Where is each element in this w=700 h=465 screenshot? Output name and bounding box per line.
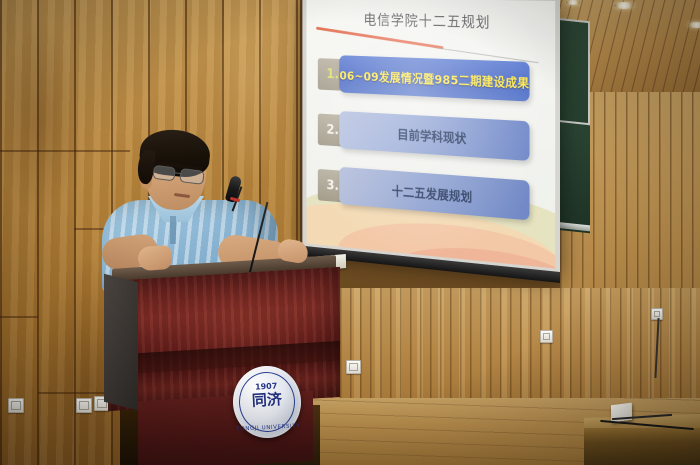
slide-item-1-banner: 06~09发展情况暨985二期建设成果 bbox=[339, 55, 529, 101]
slide-item-2-banner: 目前学科现状 bbox=[339, 111, 529, 161]
slide-item-2-text: 目前学科现状 bbox=[339, 121, 529, 151]
wall-seam-4 bbox=[38, 392, 112, 394]
recessed-light-3 bbox=[566, 0, 580, 5]
left-hand bbox=[137, 245, 173, 271]
right-hand bbox=[276, 238, 309, 265]
side-table-edge bbox=[584, 428, 700, 465]
wall-outlet-2 bbox=[76, 398, 92, 413]
wall-outlet-1 bbox=[8, 398, 24, 413]
recessed-light-2 bbox=[688, 22, 700, 28]
recessed-light-1 bbox=[614, 2, 634, 9]
lecture-hall-photo: 电信学院十二五规划 1. 06~09发展情况暨985二期建设成果 2. 目前学科… bbox=[0, 0, 700, 465]
slide-item-1: 1. 06~09发展情况暨985二期建设成果 bbox=[318, 54, 538, 105]
wall-outlet-5 bbox=[540, 330, 553, 343]
slide-item-3-text: 十二五发展规划 bbox=[339, 177, 529, 210]
slide-item-1-text: 06~09发展情况暨985二期建设成果 bbox=[339, 65, 529, 91]
wall-seam-3 bbox=[0, 316, 38, 318]
wall-outlet-4 bbox=[346, 360, 361, 374]
hands-layer bbox=[96, 128, 356, 308]
